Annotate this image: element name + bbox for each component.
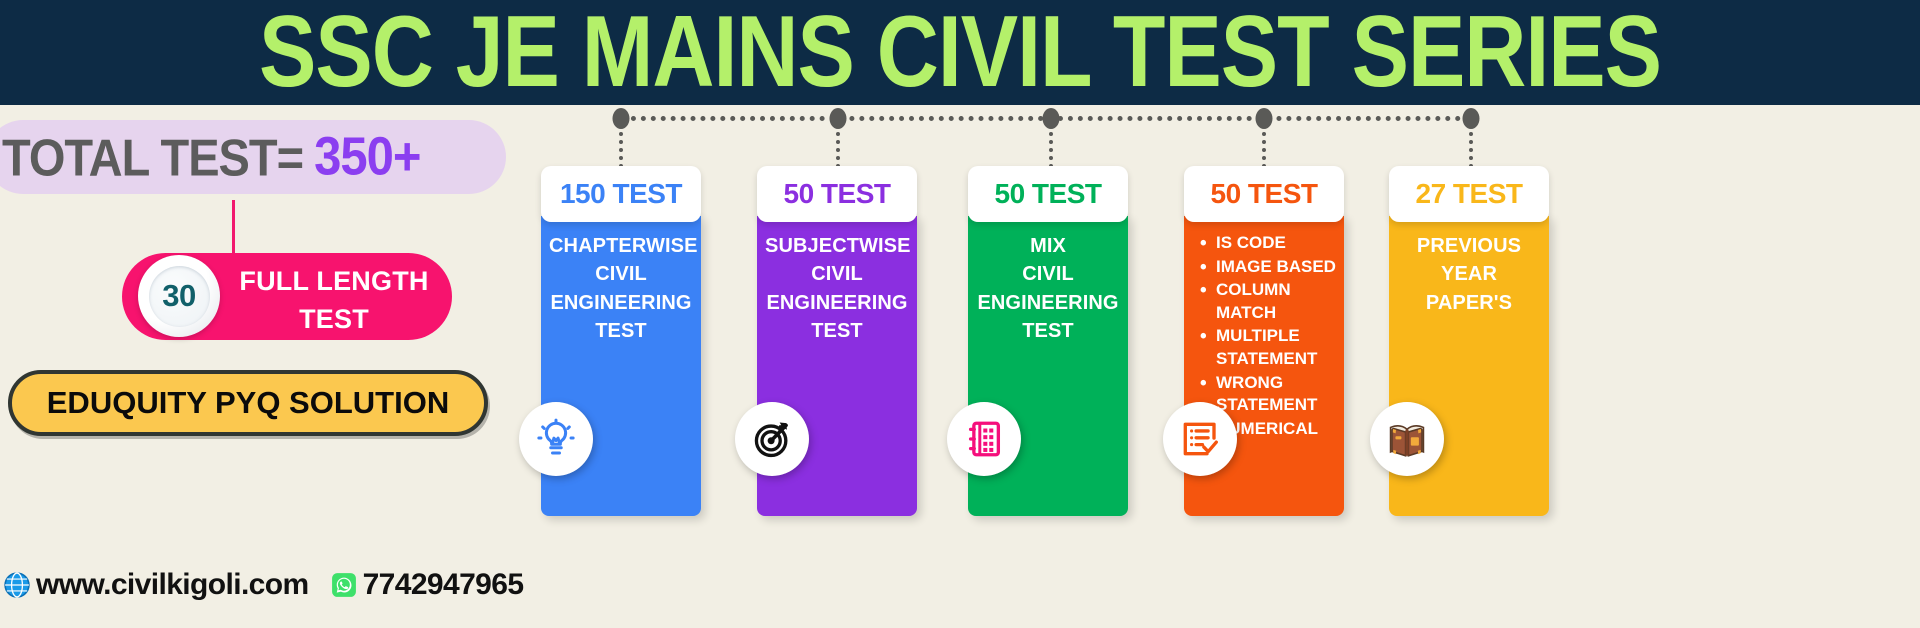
notebook-icon [947,402,1021,476]
list-item: MULTIPLE STATEMENT [1200,325,1336,370]
card-badge-label: 50 TEST [784,178,891,210]
target-dart-icon [735,402,809,476]
card-badge: 50 TEST [1184,166,1344,222]
full-length-label: FULL LENGTH TEST [228,262,440,339]
card-text-line: SUBJECTWISE [765,232,909,260]
list-item: COLUMN MATCH [1200,279,1336,324]
card-badge: 27 TEST [1389,166,1549,222]
infographic-root: SSC JE MAINS CIVIL TEST SERIES TOTAL TES… [0,0,1920,628]
full-length-count-inner: 30 [149,266,210,327]
list-item: IS CODE [1200,232,1336,255]
card-badge-label: 27 TEST [1416,178,1523,210]
footer-contact-row: www.civilkigoli.com 7742947965 [4,568,523,602]
card-badge-label: 50 TEST [995,178,1102,210]
page-title: SSC JE MAINS CIVIL TEST SERIES [259,0,1661,111]
card-text-line: MIX [976,232,1120,260]
globe-icon [4,572,30,598]
card-text-line: CIVIL [549,260,693,288]
full-length-count: 30 [162,278,195,314]
checklist-icon [1163,402,1237,476]
phone-text[interactable]: 7742947965 [363,568,524,602]
list-item: IMAGE BASED [1200,256,1336,279]
eduquity-label: EDUQUITY PYQ SOLUTION [47,385,449,421]
card-text-line: TEST [976,317,1120,345]
total-test-value: 350+ [314,126,420,188]
card-text-line: CIVIL [976,260,1120,288]
card-badge: 50 TEST [757,166,917,222]
card-text-line: PREVIOUS [1397,232,1541,260]
header-banner: SSC JE MAINS CIVIL TEST SERIES [0,0,1920,105]
card-text-line: TEST [765,317,909,345]
website-text[interactable]: www.civilkigoli.com [36,568,309,602]
card-badge: 150 TEST [541,166,701,222]
eduquity-pyq-solution-button[interactable]: EDUQUITY PYQ SOLUTION [8,370,488,436]
whatsapp-icon [331,572,357,598]
total-test-label: TOTAL TEST= [2,127,303,188]
card-text-line: TEST [549,317,693,345]
open-book-icon [1370,402,1444,476]
card-text-line: CHAPTERWISE [549,232,693,260]
card-badge-label: 150 TEST [560,178,682,210]
card-text-line: YEAR [1397,260,1541,288]
card-badge: 50 TEST [968,166,1128,222]
card-badge-label: 50 TEST [1211,178,1318,210]
lightbulb-icon [519,402,593,476]
full-length-count-badge: 30 [138,255,220,337]
card-text-line: ENGINEERING [765,289,909,317]
total-test-pill: TOTAL TEST= 350+ [0,120,506,194]
card-text-line: ENGINEERING [549,289,693,317]
card-text-line: CIVIL [765,260,909,288]
card-text-line: ENGINEERING [976,289,1120,317]
card-text-line: PAPER'S [1397,289,1541,317]
